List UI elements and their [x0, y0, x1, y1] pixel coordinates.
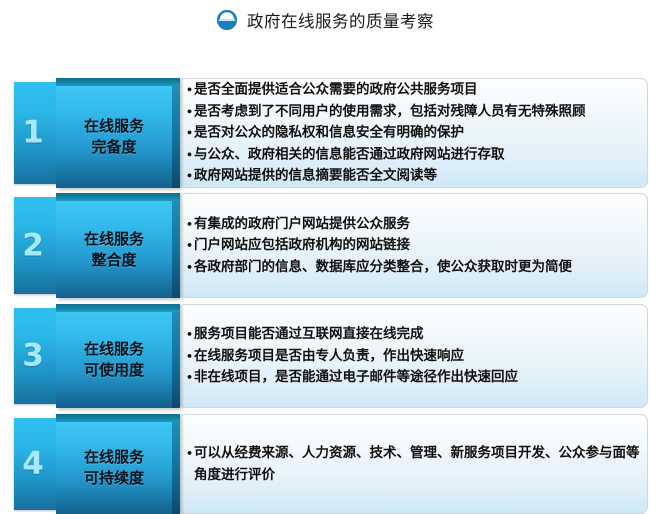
- criteria-label-box: 在线服务整合度: [56, 193, 180, 298]
- criteria-label-line2: 完备度: [84, 137, 144, 158]
- criteria-number: 4: [14, 449, 52, 480]
- criteria-label-box: 在线服务完备度: [56, 78, 180, 188]
- criteria-label-line2: 可持续度: [84, 468, 144, 489]
- label-box-top-bevel: [56, 304, 180, 312]
- label-box-face: 在线服务可持续度: [56, 422, 172, 514]
- criteria-bullet-list: 可以从经费来源、人力资源、技术、管理、新服务项目开发、公众参与面等角度进行评价: [186, 443, 641, 485]
- criteria-label-line2: 整合度: [84, 250, 144, 271]
- blue-circle-crescent-icon: [216, 9, 238, 31]
- criteria-bullet-item: 是否全面提供适合公众需要的政府公共服务项目: [186, 79, 641, 101]
- label-box-top-bevel: [56, 78, 180, 86]
- criteria-bullet-item: 各政府部门的信息、数据库应分类整合，使公众获取时更为简便: [186, 256, 641, 278]
- criteria-content-panel: 有集成的政府门户网站提供公众服务门户网站应包括政府机构的网站链接各政府部门的信息…: [178, 193, 648, 298]
- criteria-bullet-item: 在线服务项目是否由专人负责，作出快速响应: [186, 345, 641, 367]
- criteria-row: 可以从经费来源、人力资源、技术、管理、新服务项目开发、公众参与面等角度进行评价4…: [0, 414, 650, 514]
- criteria-number-box: 1: [14, 82, 60, 184]
- criteria-label-box: 在线服务可持续度: [56, 414, 180, 514]
- label-box-face: 在线服务可使用度: [56, 312, 172, 408]
- criteria-label-line1: 在线服务: [84, 339, 144, 360]
- label-box-right-bevel: [172, 312, 180, 408]
- criteria-number-box: 2: [14, 197, 60, 294]
- criteria-label-line1: 在线服务: [84, 116, 144, 137]
- criteria-content-panel: 是否全面提供适合公众需要的政府公共服务项目是否考虑到了不同用户的使用需求，包括对…: [178, 78, 648, 188]
- label-box-face: 在线服务完备度: [56, 86, 172, 188]
- criteria-label-text: 在线服务可使用度: [84, 339, 144, 381]
- criteria-label-line2: 可使用度: [84, 360, 144, 381]
- criteria-bullet-list: 服务项目能否通过互联网直接在线完成在线服务项目是否由专人负责，作出快速响应非在线…: [186, 324, 641, 389]
- criteria-list: 是否全面提供适合公众需要的政府公共服务项目是否考虑到了不同用户的使用需求，包括对…: [0, 36, 650, 484]
- criteria-number: 2: [14, 230, 52, 261]
- criteria-number: 3: [14, 341, 52, 372]
- label-box-right-bevel: [172, 86, 180, 188]
- criteria-number-box: 3: [14, 308, 60, 404]
- criteria-label-line1: 在线服务: [84, 447, 144, 468]
- criteria-content-panel: 服务项目能否通过互联网直接在线完成在线服务项目是否由专人负责，作出快速响应非在线…: [178, 304, 648, 408]
- criteria-content-panel: 可以从经费来源、人力资源、技术、管理、新服务项目开发、公众参与面等角度进行评价: [178, 414, 648, 514]
- criteria-number-box: 4: [14, 418, 60, 510]
- label-box-right-bevel: [172, 422, 180, 514]
- label-box-top-bevel: [56, 414, 180, 422]
- criteria-bullet-item: 有集成的政府门户网站提供公众服务: [186, 213, 641, 235]
- page-header: 政府在线服务的质量考察: [0, 0, 650, 36]
- label-box-top-bevel: [56, 193, 180, 201]
- label-box-right-bevel: [172, 201, 180, 298]
- criteria-bullet-item: 是否考虑到了不同用户的使用需求，包括对残障人员有无特殊照顾: [186, 101, 641, 123]
- criteria-bullet-item: 政府网站提供的信息摘要能否全文阅读等: [186, 165, 641, 187]
- criteria-label-text: 在线服务完备度: [84, 116, 144, 158]
- criteria-bullet-item: 与公众、政府相关的信息能否通过政府网站进行存取: [186, 144, 641, 166]
- criteria-row: 是否全面提供适合公众需要的政府公共服务项目是否考虑到了不同用户的使用需求，包括对…: [0, 78, 650, 188]
- page-title: 政府在线服务的质量考察: [247, 8, 434, 32]
- criteria-row: 服务项目能否通过互联网直接在线完成在线服务项目是否由专人负责，作出快速响应非在线…: [0, 304, 650, 408]
- criteria-label-box: 在线服务可使用度: [56, 304, 180, 408]
- criteria-label-text: 在线服务整合度: [84, 229, 144, 271]
- criteria-label-text: 在线服务可持续度: [84, 447, 144, 489]
- criteria-bullet-item: 可以从经费来源、人力资源、技术、管理、新服务项目开发、公众参与面等角度进行评价: [186, 443, 641, 485]
- criteria-bullet-item: 是否对公众的隐私权和信息安全有明确的保护: [186, 122, 641, 144]
- criteria-number: 1: [14, 118, 52, 149]
- criteria-bullet-list: 是否全面提供适合公众需要的政府公共服务项目是否考虑到了不同用户的使用需求，包括对…: [186, 79, 641, 187]
- label-box-face: 在线服务整合度: [56, 201, 172, 298]
- criteria-row: 有集成的政府门户网站提供公众服务门户网站应包括政府机构的网站链接各政府部门的信息…: [0, 193, 650, 298]
- criteria-bullet-item: 非在线项目，是否能通过电子邮件等途径作出快速回应: [186, 367, 641, 389]
- criteria-bullet-list: 有集成的政府门户网站提供公众服务门户网站应包括政府机构的网站链接各政府部门的信息…: [186, 213, 641, 278]
- criteria-label-line1: 在线服务: [84, 229, 144, 250]
- criteria-bullet-item: 门户网站应包括政府机构的网站链接: [186, 235, 641, 257]
- criteria-bullet-item: 服务项目能否通过互联网直接在线完成: [186, 324, 641, 346]
